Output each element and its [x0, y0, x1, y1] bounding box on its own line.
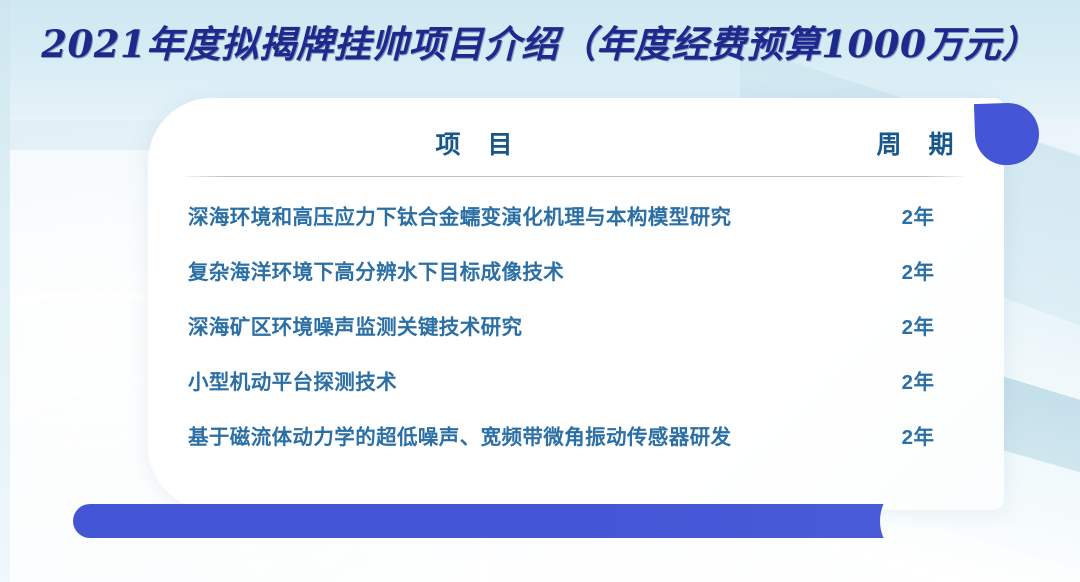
table-row: 深海矿区环境噪声监测关键技术研究 2年	[148, 300, 1004, 355]
background-left-strip	[0, 0, 10, 582]
table-row: 复杂海洋环境下高分辨水下目标成像技术 2年	[148, 245, 1004, 300]
row-period-value: 2年	[828, 190, 1008, 245]
bottom-accent-bar	[60, 498, 920, 544]
row-project-title: 基于磁流体动力学的超低噪声、宽频带微角振动传感器研发	[188, 410, 731, 465]
table-row: 小型机动平台探测技术 2年	[148, 355, 1004, 410]
column-header-project: 项 目	[364, 125, 584, 161]
table-row: 基于磁流体动力学的超低噪声、宽频带微角振动传感器研发 2年	[148, 410, 1004, 465]
row-period-value: 2年	[828, 245, 1008, 300]
header-divider	[185, 176, 964, 177]
row-project-title: 深海矿区环境噪声监测关键技术研究	[188, 300, 522, 355]
row-project-title: 小型机动平台探测技术	[188, 355, 397, 410]
bottom-bar-shape-icon	[60, 498, 920, 544]
row-project-title: 复杂海洋环境下高分辨水下目标成像技术	[188, 245, 564, 300]
table-body: 深海环境和高压应力下钛合金蠕变演化机理与本构模型研究 2年 复杂海洋环境下高分辨…	[148, 190, 1004, 465]
row-period-value: 2年	[828, 410, 1008, 465]
row-project-title: 深海环境和高压应力下钛合金蠕变演化机理与本构模型研究	[188, 190, 731, 245]
table-row: 深海环境和高压应力下钛合金蠕变演化机理与本构模型研究 2年	[148, 190, 1004, 245]
row-period-value: 2年	[828, 300, 1008, 355]
column-header-period: 周 期	[820, 125, 1010, 161]
page-title: 2021年度拟揭牌挂帅项目介绍（年度经费预算1000万元）	[0, 14, 1080, 68]
row-period-value: 2年	[828, 355, 1008, 410]
projects-table: 项 目 周 期 深海环境和高压应力下钛合金蠕变演化机理与本构模型研究 2年 复杂…	[148, 98, 1004, 510]
slide-root: 2021年度拟揭牌挂帅项目介绍（年度经费预算1000万元） 项 目 周 期 深海…	[0, 0, 1080, 582]
table-header-row: 项 目 周 期	[148, 125, 1004, 171]
